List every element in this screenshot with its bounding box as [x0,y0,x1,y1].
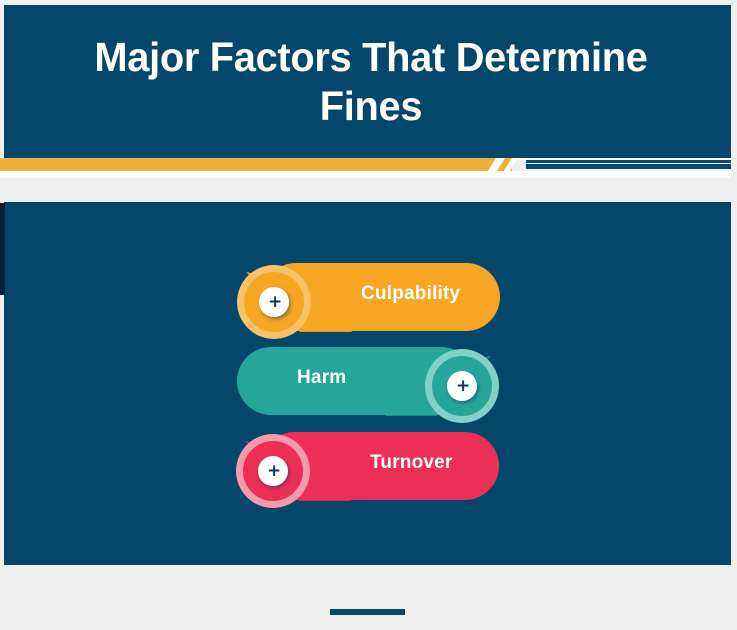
main-content-panel [4,202,731,565]
header-divider [0,158,737,178]
factor-label-culpability: Culpability [361,283,460,305]
right-margin [731,0,737,630]
expand-button-harm[interactable]: + [456,378,470,395]
divider-white-base [0,171,737,178]
left-edge-accent [0,203,5,295]
page-title: Major Factors That Determine Fines [80,33,662,131]
slide-progress-indicator[interactable] [330,609,405,615]
content-gap [0,178,737,202]
slide-page: Major Factors That Determine Fines [0,0,737,630]
divider-line-upper [526,160,737,163]
factor-label-harm: Harm [297,367,346,389]
factor-label-turnover: Turnover [370,452,453,474]
divider-line-lower [526,164,737,169]
expand-button-culpability[interactable]: + [268,294,282,311]
divider-accent-bar [0,158,512,171]
header-banner: Major Factors That Determine Fines [4,5,737,158]
expand-button-turnover[interactable]: + [267,463,281,480]
